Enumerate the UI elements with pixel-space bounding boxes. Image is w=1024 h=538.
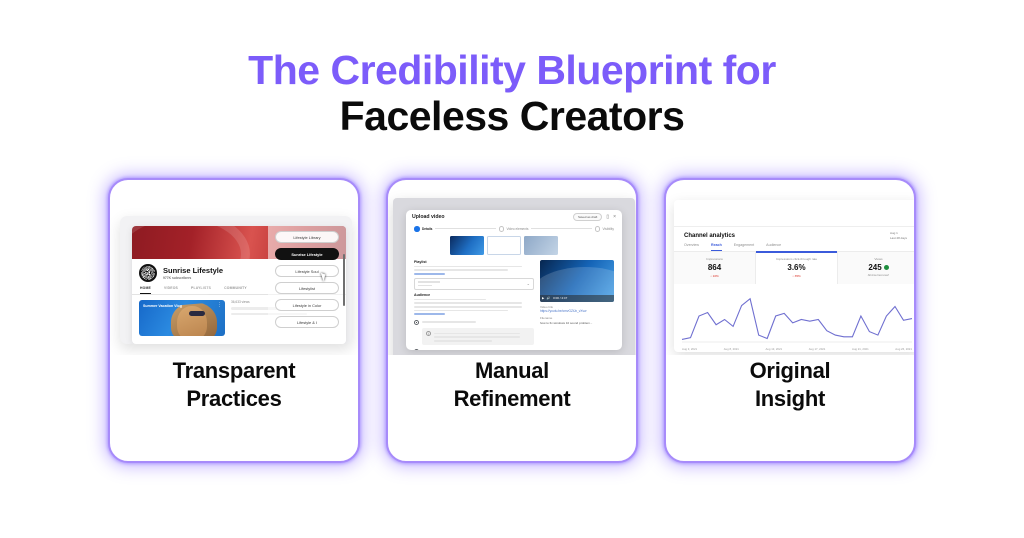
radio-yes-label (422, 321, 476, 323)
page-title: The Credibility Blueprint for Faceless C… (0, 0, 1024, 140)
notice-line (434, 340, 492, 342)
step-details[interactable]: Details (414, 226, 432, 232)
suggestion-chip[interactable]: Lifestyle in Color (275, 299, 339, 311)
playlist-description-line (414, 266, 522, 268)
audience-heading: Audience (414, 293, 534, 297)
card-title-line-2: Practices (173, 385, 296, 413)
audience-description-line (414, 302, 522, 304)
metric-value: 864 (676, 263, 753, 272)
radio-no-row[interactable] (414, 349, 534, 350)
card-title-line-2: Refinement (454, 385, 571, 413)
notice-line (434, 336, 520, 338)
x-tick: Aug 13, 2021 (765, 347, 782, 351)
feature-card-original-insight[interactable]: Channel analytics Overview Reach Engagem… (664, 178, 916, 463)
card-title: Original Insight (750, 357, 831, 413)
card-title-line-2: Insight (750, 385, 831, 413)
metric-sub: All-time best ever! (840, 274, 914, 277)
studio-window: Upload video Saved as draft ▯ × Details (393, 198, 635, 355)
player-controls[interactable]: ▶ 🔊 0:00 / 4:47 (540, 295, 614, 302)
info-icon: i (426, 331, 431, 336)
metric-views[interactable]: Views 245 All-time best ever! (838, 252, 914, 284)
suggestion-chip[interactable]: Lifestyle & I (275, 316, 339, 328)
scrollbar[interactable] (343, 254, 345, 306)
video-time: 0:00 / 4:47 (553, 296, 567, 300)
step-visibility[interactable]: Visibility (595, 226, 614, 232)
step-label: Video elements (507, 227, 529, 231)
channel-page-screenshot: Sunrise Lifestyle 977K subscribers HOME … (110, 180, 358, 355)
thumbnail-option[interactable] (524, 236, 558, 255)
step-connector (531, 228, 591, 229)
step-label: Visibility (603, 227, 614, 231)
step-indicator: Details Video elements Visibility (406, 224, 622, 232)
feature-card-row: Sunrise Lifestyle 977K subscribers HOME … (0, 178, 1024, 463)
suggestion-chip[interactable]: Lifestylist (275, 282, 339, 294)
close-icon[interactable]: × (613, 215, 616, 220)
step-dot-icon (414, 226, 420, 232)
analytics-title: Channel analytics (674, 227, 914, 239)
video-link[interactable]: https://youtu.be/cmvGZtJx_vXvw (540, 309, 614, 313)
card-title: Manual Refinement (454, 357, 571, 413)
play-icon[interactable]: ▶ (542, 296, 544, 300)
x-tick: Aug 17, 2021 (809, 347, 826, 351)
channel-page: Sunrise Lifestyle 977K subscribers HOME … (132, 226, 346, 344)
feature-card-transparent-practices[interactable]: Sunrise Lifestyle 977K subscribers HOME … (108, 178, 360, 463)
poster-root: The Credibility Blueprint for Faceless C… (0, 0, 1024, 538)
metric-value: 245 (840, 263, 914, 272)
saved-draft-badge: Saved as draft (573, 213, 602, 221)
analytics-screenshot: Channel analytics Overview Reach Engagem… (666, 180, 914, 355)
dialog-header: Upload video Saved as draft ▯ × (406, 210, 622, 224)
see-more-link[interactable]: SEE MORE (674, 351, 914, 352)
upload-video-dialog: Upload video Saved as draft ▯ × Details (406, 210, 622, 350)
chart-line (682, 299, 912, 340)
volume-icon[interactable]: 🔊 (547, 296, 551, 300)
title-line-1: The Credibility Blueprint for (0, 48, 1024, 94)
playlist-learn-more-link[interactable] (414, 273, 445, 275)
x-tick: Aug 21, 2021 (852, 347, 869, 351)
playlist-select[interactable]: ⌄ (414, 278, 534, 290)
radio-yes-row[interactable] (414, 319, 534, 325)
step-dot-icon (499, 226, 505, 232)
metric-card-row: Impressions 864 ↓ 10% Impressions click-… (674, 251, 914, 284)
dialog-title: Upload video (412, 214, 445, 220)
upload-dialog-screenshot: Upload video Saved as draft ▯ × Details (388, 180, 636, 355)
thumbnail-picker (406, 232, 622, 257)
filename-value: how to fix windows 10 sound problem... (540, 321, 614, 325)
metric-value: 3.6% (758, 263, 835, 272)
impressions-line-chart (674, 284, 914, 346)
card-title-line-1: Original (750, 357, 831, 385)
metric-value-text: 245 (868, 263, 881, 272)
audience-description-line (414, 310, 508, 312)
chart-svg (682, 290, 912, 342)
dialog-body: Playlist ⌄ (406, 257, 622, 351)
suggestion-chip-selected[interactable]: Sunrise Lifestyle (275, 248, 339, 260)
tab-overview[interactable]: Overview (684, 243, 699, 251)
kebab-menu-icon[interactable]: ⋮ (217, 303, 222, 307)
playlist-select-label (418, 281, 440, 283)
made-for-kids-notice: i (422, 328, 534, 345)
audience-question-line (414, 299, 486, 301)
radio-no-not-made-for-kids[interactable] (414, 349, 419, 350)
metric-label: Views (840, 257, 914, 261)
chevron-down-icon: ⌄ (527, 282, 530, 286)
step-video-elements[interactable]: Video elements (499, 226, 529, 232)
date-range-selector[interactable]: Aug 1 Last 28 days (890, 231, 914, 240)
metric-delta: ↓ 35% (758, 274, 835, 278)
step-dot-icon (595, 226, 601, 232)
card-title-line-1: Manual (454, 357, 571, 385)
step-connector (435, 228, 495, 229)
thumbnail-option[interactable] (450, 236, 484, 255)
date-range-line-2: Last 28 days (890, 236, 914, 241)
playlist-description-line (414, 269, 508, 271)
best-ever-badge-icon (884, 265, 889, 270)
analytics-topbar (674, 200, 914, 227)
tab-audience[interactable]: Audience (766, 243, 781, 251)
title-line-2: Faceless Creators (0, 94, 1024, 140)
suggestion-chip[interactable]: Lifestyle Library (275, 231, 339, 243)
avatar (139, 264, 157, 282)
notice-line (434, 333, 520, 335)
thumbnail-sunglasses (189, 311, 205, 316)
metric-label: Impressions (676, 257, 753, 261)
browser-frame: Sunrise Lifestyle 977K subscribers HOME … (120, 216, 352, 344)
radio-yes-made-for-kids[interactable] (414, 320, 419, 325)
name-suggestion-list: Lifestyle Library Sunrise Lifestyle Life… (268, 226, 346, 344)
metric-impressions[interactable]: Impressions 864 ↓ 10% (674, 252, 756, 284)
feature-card-manual-refinement[interactable]: Upload video Saved as draft ▯ × Details (386, 178, 638, 463)
thumbnail-option[interactable] (487, 236, 521, 255)
help-icon[interactable]: ▯ (606, 215, 609, 220)
metric-ctr[interactable]: Impressions click-through rate 3.6% ↓ 35… (756, 252, 838, 284)
x-tick: Aug 3, 2021 (682, 347, 697, 351)
suggestion-chip[interactable]: Lifestyle Soul (275, 265, 339, 277)
card-title-line-1: Transparent (173, 357, 296, 385)
analytics-tabs: Overview Reach Engagement Audience (674, 239, 914, 251)
analytics-window: Channel analytics Overview Reach Engagem… (674, 200, 914, 352)
card-title: Transparent Practices (173, 357, 296, 413)
video-preview[interactable]: ▶ 🔊 0:00 / 4:47 (540, 260, 614, 302)
video-thumbnail[interactable]: Summer Vacation Vlog ⋮ (139, 300, 225, 336)
tab-community[interactable]: COMMUNITY (224, 286, 247, 294)
tab-engagement[interactable]: Engagement (734, 243, 754, 251)
video-preview-panel: ▶ 🔊 0:00 / 4:47 Video link https://youtu… (540, 257, 614, 351)
tab-reach[interactable]: Reach (711, 243, 722, 251)
metric-delta: ↓ 10% (676, 274, 753, 278)
audience-description-line (414, 306, 522, 308)
playlist-heading: Playlist (414, 260, 534, 264)
audience-learn-more-link[interactable] (414, 313, 445, 315)
x-tick: Aug 8, 2021 (724, 347, 739, 351)
metric-label: Impressions click-through rate (758, 257, 835, 261)
step-label: Details (422, 227, 432, 231)
video-title: Summer Vacation Vlog (143, 304, 182, 308)
x-tick: Aug 26, 2021 (895, 347, 912, 351)
filename-heading: Filename (540, 316, 614, 320)
playlist-select-value (418, 285, 432, 287)
